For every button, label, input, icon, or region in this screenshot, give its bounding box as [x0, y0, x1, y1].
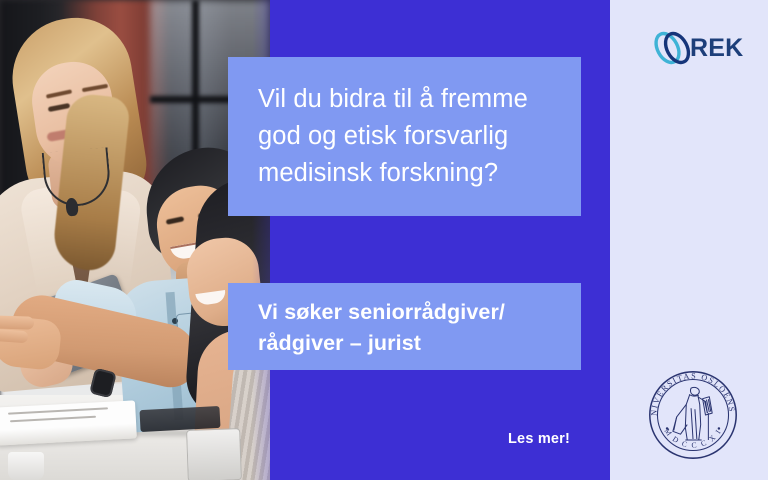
rek-interlocking-ellipses-icon	[650, 26, 694, 70]
job-title-line-2: rådgiver – jurist	[258, 328, 555, 359]
job-title-callout: Vi søker seniorrådgiver/ rådgiver – juri…	[228, 283, 581, 370]
uio-seal: UNIVERSITAS OSLOENSIS M D C C C X I	[645, 367, 741, 463]
headline-callout: Vil du bidra til å fremme god og etisk f…	[228, 57, 581, 216]
photo-mug	[8, 452, 44, 480]
uio-apollo-seal-icon: UNIVERSITAS OSLOENSIS M D C C C X I	[645, 367, 741, 463]
photo-keyboard	[139, 406, 220, 432]
job-advert-banner: Vil du bidra til å fremme god og etisk f…	[0, 0, 768, 480]
photo-index-finger	[0, 315, 34, 330]
photo-laptop	[187, 429, 241, 480]
photo-finger	[0, 329, 28, 343]
rek-wordmark: REK	[690, 34, 743, 63]
headline-line-1: Vil du bidra til å fremme	[258, 81, 555, 118]
job-title-line-1: Vi søker seniorrådgiver/	[258, 297, 555, 328]
headline-line-2: god og etisk forsvarlig	[258, 118, 555, 155]
photo-paper-stack	[0, 400, 137, 445]
rek-logo[interactable]: REK	[650, 26, 750, 70]
headline-line-3: medisinsk forskning?	[258, 155, 555, 192]
read-more-link[interactable]: Les mer!	[508, 431, 570, 447]
